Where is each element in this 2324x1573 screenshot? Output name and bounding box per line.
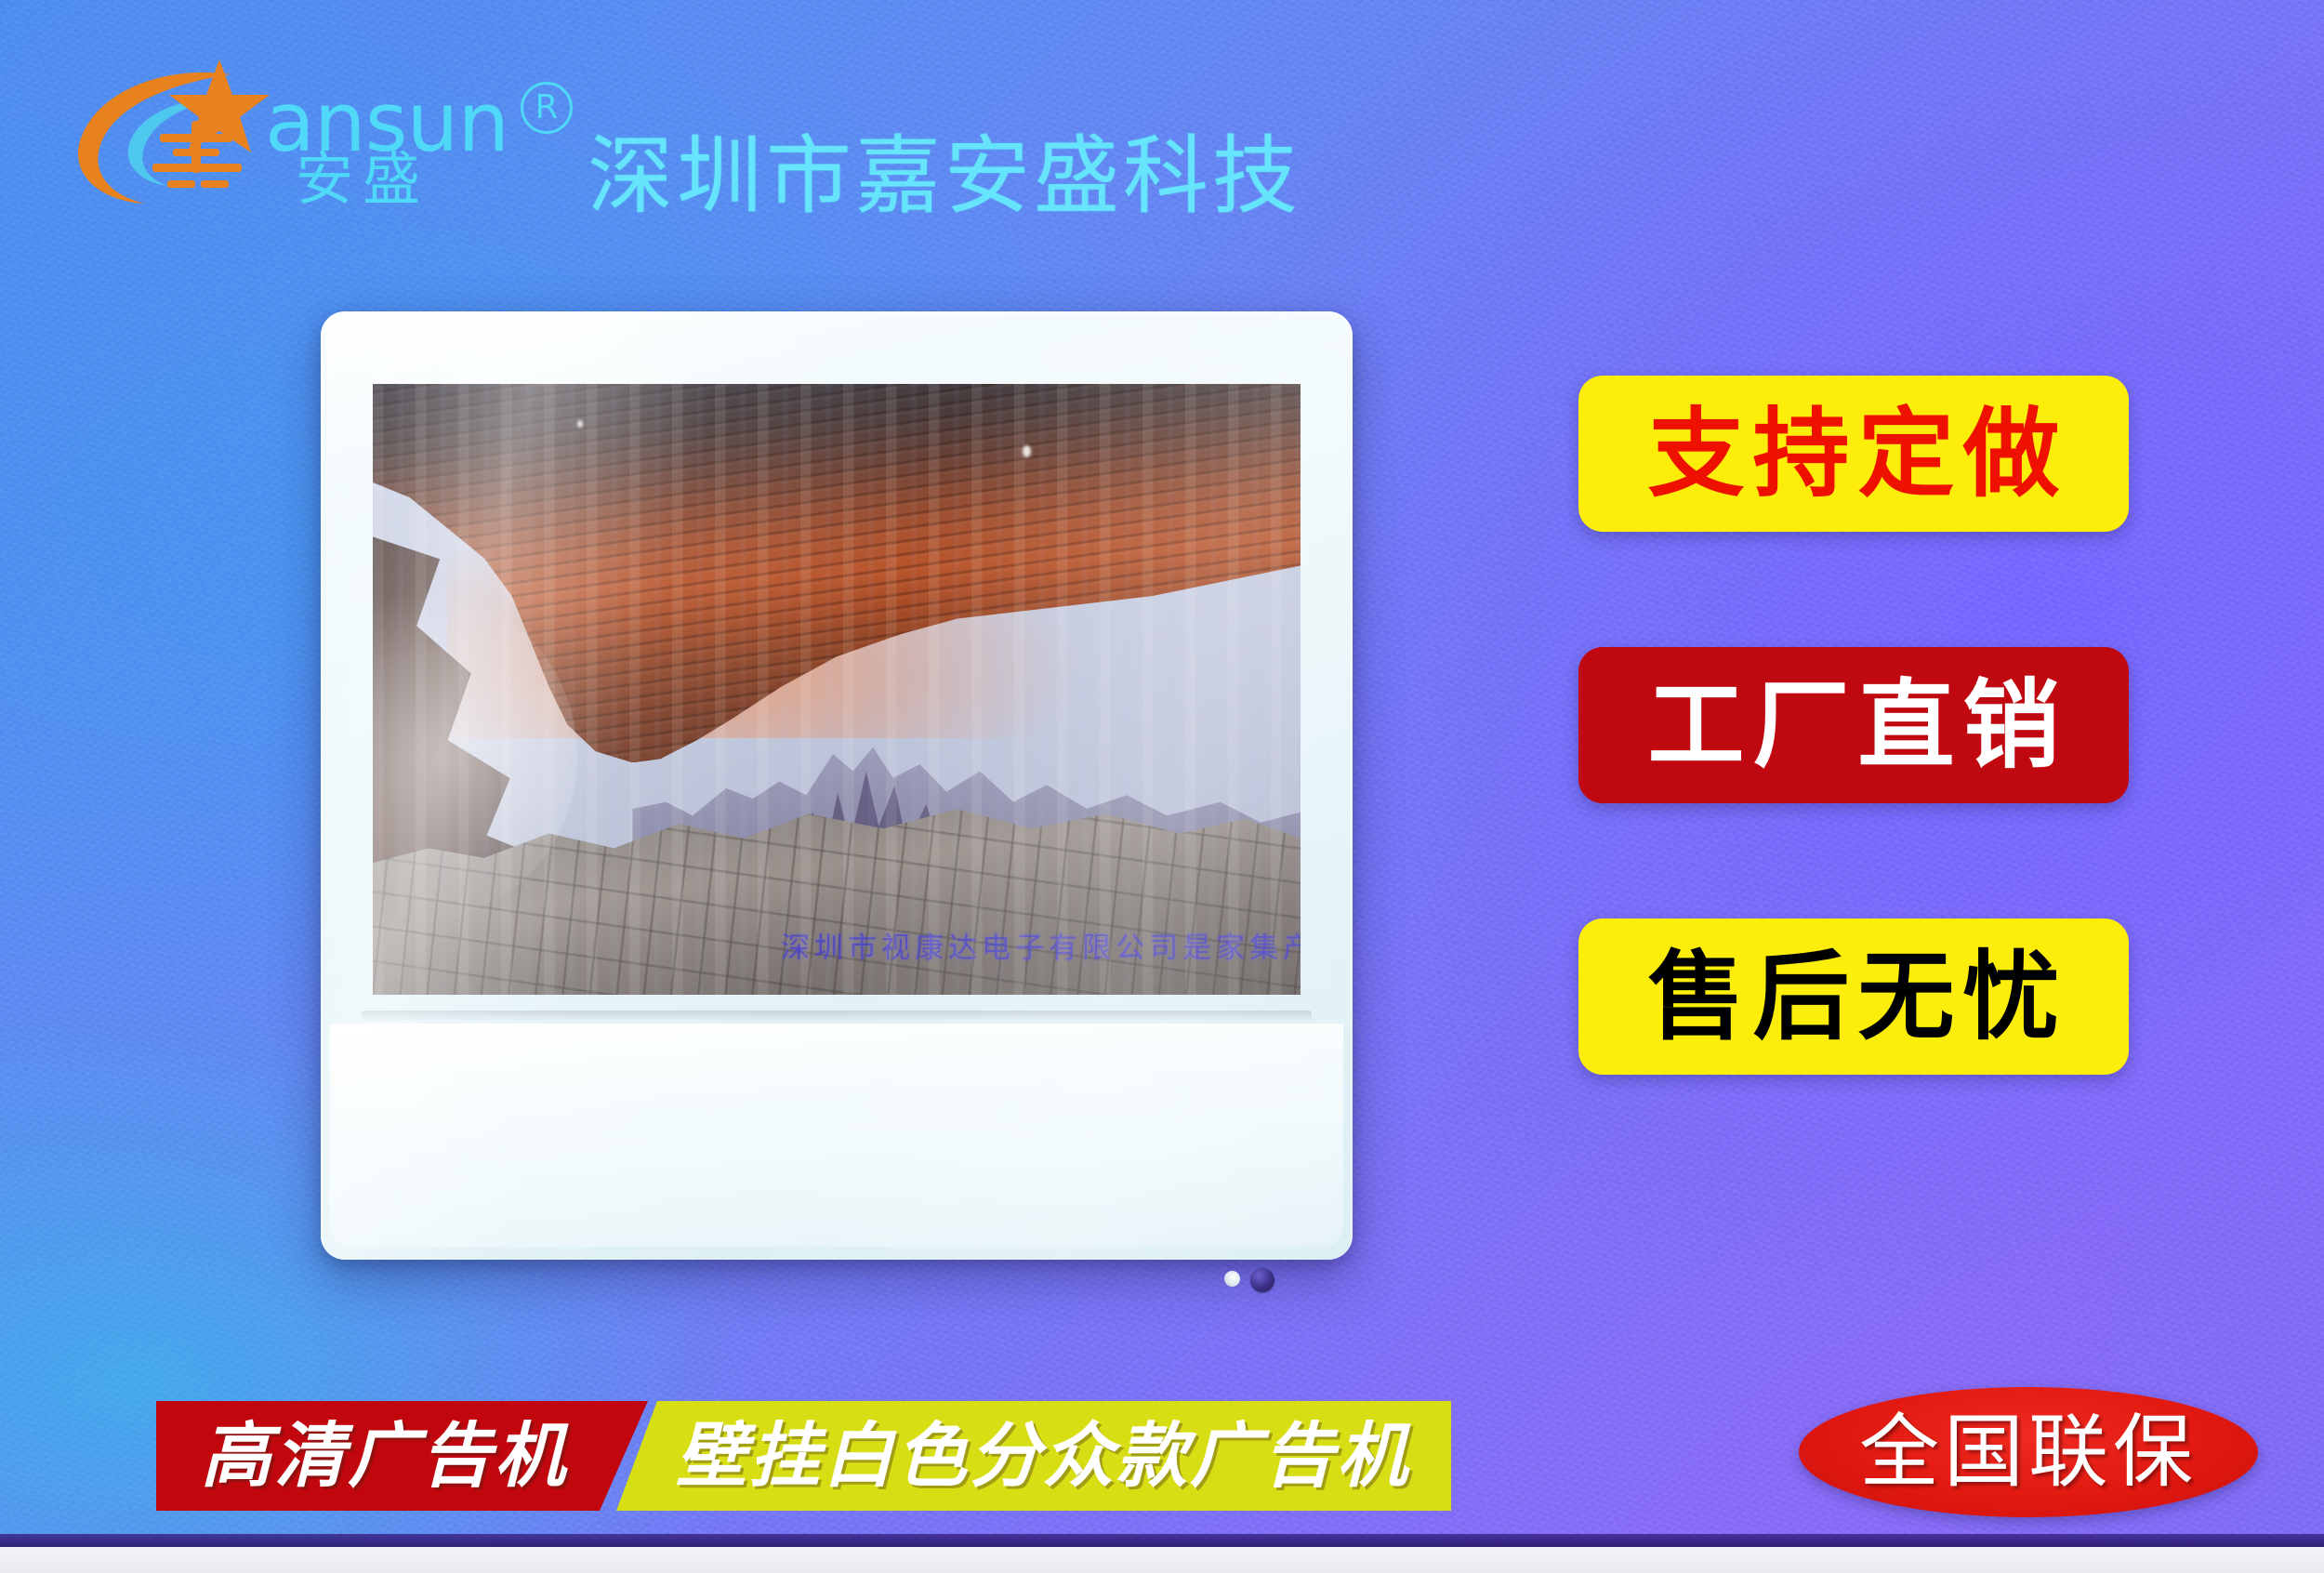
- ir-sensor-icon: [1250, 1268, 1274, 1292]
- ribbon-description-panel: 壁挂白色分众款广告机: [616, 1401, 1451, 1511]
- ribbon-description-label: 壁挂白色分众款广告机: [676, 1421, 1410, 1491]
- feature-badge-custom-made[interactable]: 支持定做: [1578, 376, 2129, 532]
- ribbon-category-label: 高清广告机: [201, 1421, 568, 1491]
- bottom-ribbon: 高清广告机 壁挂白色分众款广告机: [156, 1401, 1451, 1511]
- warranty-badge-label: 全国联保: [1859, 1412, 2198, 1492]
- company-name: 深圳市嘉安盛科技: [588, 134, 1301, 219]
- registered-trademark-icon: R: [521, 82, 573, 134]
- wall-baseboard: [0, 1534, 2324, 1547]
- feature-badge-label: 售后无忧: [1639, 948, 2067, 1045]
- feature-badge-after-sales[interactable]: 售后无忧: [1578, 919, 2129, 1075]
- floor-strip: [0, 1547, 2324, 1573]
- feature-badge-label: 支持定做: [1639, 405, 2067, 502]
- product-device: 深圳市视康达电子有限公司是家集产: [321, 311, 1353, 1260]
- feature-badge-list: 支持定做 工厂直销 售后无忧: [1578, 376, 2147, 1190]
- bezel-seam: [362, 1011, 1312, 1022]
- feature-badge-factory-direct[interactable]: 工厂直销: [1578, 647, 2129, 803]
- poster-canvas: ansun 安盛 R 深圳市嘉安盛科技 深圳市视康达电子有限公司是家集产: [0, 0, 2324, 1573]
- logo-subtitle-cn: 安盛: [296, 151, 429, 208]
- brand-header: ansun 安盛 R 深圳市嘉安盛科技: [56, 33, 1376, 210]
- warranty-badge[interactable]: 全国联保: [1799, 1387, 2258, 1517]
- feature-badge-label: 工厂直销: [1639, 677, 2067, 773]
- status-led-icon: [1224, 1271, 1240, 1287]
- device-screen: 深圳市视康达电子有限公司是家集产: [373, 384, 1301, 995]
- ribbon-category-panel: 高清广告机: [156, 1401, 648, 1511]
- bezel-lower-panel: [330, 1024, 1343, 1247]
